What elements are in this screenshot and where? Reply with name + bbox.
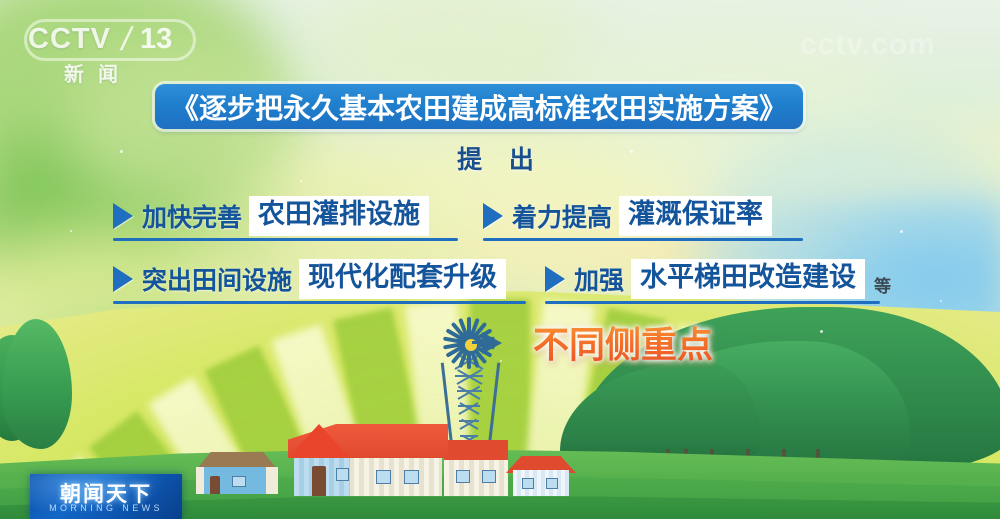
sparkle bbox=[820, 330, 823, 333]
point-underline-3 bbox=[113, 301, 526, 304]
triangle-right-icon bbox=[113, 266, 133, 292]
house-right-back bbox=[444, 440, 508, 496]
windmill-rung bbox=[460, 435, 478, 437]
house-window bbox=[546, 478, 558, 489]
triangle-right-icon bbox=[483, 203, 503, 229]
point-underline-4 bbox=[545, 301, 880, 304]
house-window bbox=[522, 478, 534, 489]
point-underline-2 bbox=[483, 238, 803, 241]
house-wall bbox=[444, 460, 508, 496]
sparkle bbox=[900, 230, 903, 233]
highlight-text: 不同侧重点 bbox=[533, 316, 713, 368]
house-small-right bbox=[506, 456, 576, 496]
house-side-wall bbox=[266, 467, 278, 494]
windmill-rung bbox=[459, 420, 479, 422]
cctv-logo-text: CCTV bbox=[28, 22, 111, 56]
sparkle bbox=[120, 150, 123, 153]
point-item-3: 突出田间设施 现代化配套升级 bbox=[113, 259, 506, 299]
point-chip-2: 灌溉保证率 bbox=[619, 196, 772, 236]
sparkle bbox=[70, 230, 72, 232]
sparkle bbox=[940, 300, 942, 302]
point-underline-1 bbox=[113, 238, 458, 241]
house-window bbox=[232, 476, 246, 487]
point-item-2: 着力提高 灌溉保证率 bbox=[483, 196, 772, 236]
point-lead-4: 加强 bbox=[574, 261, 624, 297]
windmill-rung bbox=[458, 405, 481, 407]
house-big bbox=[288, 424, 448, 496]
cctv-logo-number: 13 bbox=[140, 22, 172, 56]
windmill-hub bbox=[463, 337, 479, 353]
point-item-4: 加强 水平梯田改造建设 等 bbox=[545, 259, 891, 299]
house-window bbox=[404, 470, 419, 484]
page-title: 《逐步把永久基本农田建成高标准农田实施方案》 bbox=[171, 87, 787, 127]
windmill-rung bbox=[457, 390, 482, 392]
point-chip-1: 农田灌排设施 bbox=[249, 196, 429, 236]
point-item-1: 加快完善 农田灌排设施 bbox=[113, 196, 429, 236]
triangle-right-icon bbox=[545, 266, 565, 292]
broadcast-screenshot: CCTV / 13 新闻 cctv.com 《逐步把永久基本农田建成高标准农田实… bbox=[0, 0, 1000, 519]
sparkle bbox=[630, 150, 633, 153]
house-window bbox=[482, 470, 496, 483]
program-banner: 朝闻天下 MORNING NEWS bbox=[30, 474, 182, 519]
cctv-logo-subtitle: 新闻 bbox=[64, 58, 132, 87]
document-title-banner: 《逐步把永久基本农田建成高标准农田实施方案》 bbox=[155, 84, 803, 129]
cctv-logo: CCTV / 13 新闻 bbox=[28, 22, 193, 82]
cctv-watermark: cctv.com bbox=[800, 28, 936, 62]
windmill-rung bbox=[455, 375, 483, 377]
point-lead-1: 加快完善 bbox=[142, 198, 242, 234]
house-window bbox=[376, 470, 391, 484]
point-lead-3: 突出田间设施 bbox=[142, 261, 292, 297]
house-small-blue bbox=[196, 452, 278, 494]
sparkle bbox=[300, 180, 302, 182]
point-chip-3: 现代化配套升级 bbox=[299, 259, 506, 299]
house-door bbox=[210, 476, 220, 494]
windmill-vane bbox=[482, 332, 502, 354]
point-chip-4: 水平梯田改造建设 bbox=[631, 259, 865, 299]
point-tail-4: 等 bbox=[874, 272, 891, 299]
sparkle bbox=[500, 360, 502, 362]
point-lead-2: 着力提高 bbox=[512, 198, 612, 234]
house-window bbox=[456, 470, 470, 483]
house-window bbox=[336, 468, 349, 481]
subtitle-tichu: 提 出 bbox=[0, 140, 1000, 176]
house-door bbox=[312, 466, 326, 496]
program-name-en: MORNING NEWS bbox=[30, 503, 182, 513]
house-roof bbox=[444, 440, 508, 462]
triangle-right-icon bbox=[113, 203, 133, 229]
